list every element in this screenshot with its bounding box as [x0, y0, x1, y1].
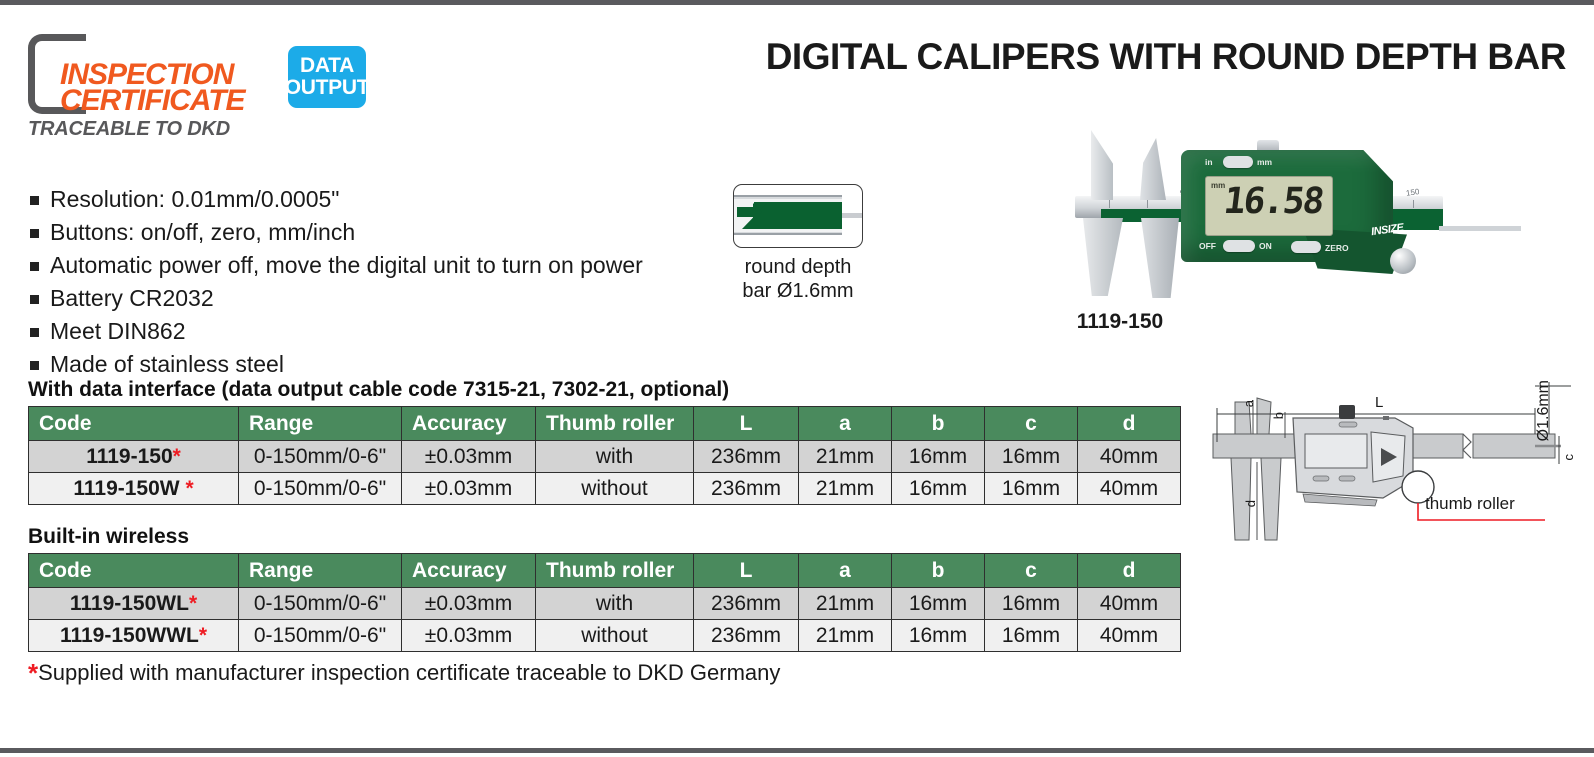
list-item: Made of stainless steel [30, 351, 710, 379]
col-header-l: L [694, 554, 799, 588]
col-header-thumb-roller: Thumb roller [536, 407, 694, 441]
cell-b: 16mm [892, 441, 985, 473]
table-header-row: Code Range Accuracy Thumb roller L a b c… [29, 554, 1181, 588]
col-header-a: a [799, 554, 892, 588]
bullet-square-icon [30, 328, 39, 337]
mm-button-label: mm [1257, 157, 1272, 167]
cell-l: 236mm [694, 588, 799, 620]
cell-range: 0-150mm/0-6" [239, 620, 402, 652]
page-title: DIGITAL CALIPERS WITH ROUND DEPTH BAR [766, 36, 1566, 78]
code-value: 1119-150WWL [60, 624, 199, 647]
list-item: Buttons: on/off, zero, mm/inch [30, 219, 710, 247]
col-header-l: L [694, 407, 799, 441]
product-photo: 70 80 90 100 110 120 130 140 150 mm 16.5… [905, 108, 1445, 303]
cell-code: 1119-150WWL* [29, 620, 239, 652]
cell-accuracy: ±0.03mm [402, 620, 536, 652]
cell-thumb-roller: with [536, 441, 694, 473]
code-value: 1119-150WL [70, 592, 189, 615]
footnote-asterisk: * [28, 658, 38, 688]
cell-b: 16mm [892, 620, 985, 652]
cell-c: 16mm [985, 588, 1078, 620]
feature-text: Resolution: 0.01mm/0.0005" [50, 186, 339, 214]
cell-c: 16mm [985, 620, 1078, 652]
cell-range: 0-150mm/0-6" [239, 473, 402, 505]
col-header-b: b [892, 407, 985, 441]
table-1-heading: With data interface (data output cable c… [28, 378, 729, 402]
list-item: Resolution: 0.01mm/0.0005" [30, 186, 710, 214]
round-depth-bar-inset-image [733, 184, 863, 248]
bullet-square-icon [30, 229, 39, 238]
caliper-thumb-roller [1390, 248, 1416, 274]
col-header-b: b [892, 554, 985, 588]
depth-bar-rod [842, 213, 863, 218]
bullet-square-icon [30, 295, 39, 304]
cell-code: 1119-150* [29, 441, 239, 473]
caliper-lcd-display: mm 16.58 [1205, 176, 1333, 236]
cell-c: 16mm [985, 441, 1078, 473]
round-depth-bar-caption: round depth bar Ø1.6mm [718, 256, 878, 303]
cell-accuracy: ±0.03mm [402, 441, 536, 473]
asterisk-marker: * [173, 445, 181, 468]
dim-label-L: L [1375, 394, 1383, 411]
certificate-line2: CERTIFICATE [60, 86, 245, 116]
col-header-a: a [799, 407, 892, 441]
off-button-label: OFF [1199, 241, 1216, 251]
feature-text: Meet DIN862 [50, 318, 186, 346]
cell-a: 21mm [799, 588, 892, 620]
thumb-roller-callout-label: thumb roller [1425, 494, 1515, 514]
col-header-d: d [1078, 554, 1181, 588]
cell-range: 0-150mm/0-6" [239, 588, 402, 620]
table-row: 1119-150W * 0-150mm/0-6" ±0.03mm without… [29, 473, 1181, 505]
col-header-c: c [985, 554, 1078, 588]
col-header-d: d [1078, 407, 1181, 441]
feature-text: Buttons: on/off, zero, mm/inch [50, 219, 355, 247]
caliper-dimension-diagram [1205, 372, 1575, 542]
cell-c: 16mm [985, 473, 1078, 505]
cell-a: 21mm [799, 441, 892, 473]
table-header-row: Code Range Accuracy Thumb roller L a b c… [29, 407, 1181, 441]
depth-bar-caption-line2: bar Ø1.6mm [718, 280, 878, 304]
caliper-upper-jaw-moving [1140, 138, 1166, 200]
col-header-accuracy: Accuracy [402, 407, 536, 441]
dim-label-c: c [1561, 454, 1576, 461]
dim-label-diameter: Ø1.6mm [1535, 380, 1553, 441]
asterisk-marker: * [185, 477, 193, 500]
caliper-depth-rod [1439, 226, 1521, 231]
lcd-value: 16.58 [1221, 181, 1324, 222]
spec-table-built-in-wireless: Code Range Accuracy Thumb roller L a b c… [28, 553, 1181, 652]
data-output-line2: OUTPUT [285, 77, 370, 99]
cell-d: 40mm [1078, 620, 1181, 652]
cell-b: 16mm [892, 588, 985, 620]
dim-label-a: a [1241, 400, 1256, 407]
feature-list: Resolution: 0.01mm/0.0005" Buttons: on/o… [30, 186, 710, 385]
cell-code: 1119-150WL* [29, 588, 239, 620]
asterisk-marker: * [199, 624, 207, 647]
list-item: Battery CR2032 [30, 285, 710, 313]
data-output-line1: DATA [300, 55, 354, 77]
feature-text: Battery CR2032 [50, 285, 214, 313]
certificate-traceable-text: TRACEABLE TO DKD [28, 118, 230, 141]
table-row: 1119-150WWL* 0-150mm/0-6" ±0.03mm withou… [29, 620, 1181, 652]
cell-code: 1119-150W * [29, 473, 239, 505]
dim-label-d: d [1243, 500, 1258, 507]
col-header-thumb-roller: Thumb roller [536, 554, 694, 588]
inch-mm-button [1223, 156, 1253, 168]
col-header-c: c [985, 407, 1078, 441]
list-item: Meet DIN862 [30, 318, 710, 346]
table-2-heading: Built-in wireless [28, 525, 189, 549]
depth-bar-caption-line1: round depth [718, 256, 878, 280]
arrow-right-icon [737, 207, 754, 217]
col-header-accuracy: Accuracy [402, 554, 536, 588]
caliper-lower-jaw-moving [1141, 218, 1179, 298]
inch-button-label: in [1205, 157, 1213, 167]
zero-button-label: ZERO [1325, 243, 1349, 253]
feature-text: Made of stainless steel [50, 351, 284, 379]
cell-d: 40mm [1078, 588, 1181, 620]
page-bottom-rule [0, 748, 1594, 753]
caliper-lower-jaw-fixed [1083, 218, 1123, 296]
footnote: *Supplied with manufacturer inspection c… [28, 660, 780, 686]
footnote-text: Supplied with manufacturer inspection ce… [38, 660, 780, 685]
depth-bar-edge-top [734, 195, 842, 197]
cell-l: 236mm [694, 473, 799, 505]
cell-l: 236mm [694, 441, 799, 473]
cell-d: 40mm [1078, 473, 1181, 505]
table-row: 1119-150* 0-150mm/0-6" ±0.03mm with 236m… [29, 441, 1181, 473]
cell-a: 21mm [799, 473, 892, 505]
cell-range: 0-150mm/0-6" [239, 441, 402, 473]
technical-drawing: L a b d c Ø1.6mm [1205, 372, 1575, 542]
data-output-badge: DATA OUTPUT [288, 46, 366, 108]
page-top-rule [0, 0, 1594, 5]
product-model-label: 1119-150 [1000, 310, 1240, 334]
on-off-button [1223, 240, 1255, 252]
asterisk-marker: * [189, 592, 197, 615]
bullet-square-icon [30, 196, 39, 205]
cell-thumb-roller: with [536, 588, 694, 620]
cell-b: 16mm [892, 473, 985, 505]
depth-bar-edge-bottom [734, 233, 842, 235]
cell-accuracy: ±0.03mm [402, 588, 536, 620]
cell-d: 40mm [1078, 441, 1181, 473]
col-header-code: Code [29, 407, 239, 441]
cell-thumb-roller: without [536, 473, 694, 505]
spec-table-with-data-interface: Code Range Accuracy Thumb roller L a b c… [28, 406, 1181, 505]
inspection-certificate-logo: INSPECTION CERTIFICATE TRACEABLE TO DKD [28, 32, 278, 127]
feature-text: Automatic power off, move the digital un… [50, 252, 643, 280]
col-header-range: Range [239, 554, 402, 588]
bullet-square-icon [30, 361, 39, 370]
zero-button [1291, 241, 1321, 253]
table-row: 1119-150WL* 0-150mm/0-6" ±0.03mm with 23… [29, 588, 1181, 620]
cell-thumb-roller: without [536, 620, 694, 652]
dim-label-b: b [1271, 412, 1286, 419]
col-header-code: Code [29, 554, 239, 588]
cell-l: 236mm [694, 620, 799, 652]
cell-accuracy: ±0.03mm [402, 473, 536, 505]
code-value: 1119-150 [86, 445, 172, 468]
caliper-upper-jaw-fixed [1091, 130, 1113, 200]
bullet-square-icon [30, 262, 39, 271]
cell-a: 21mm [799, 620, 892, 652]
code-value: 1119-150W [73, 477, 179, 500]
list-item: Automatic power off, move the digital un… [30, 252, 710, 280]
on-button-label: ON [1259, 241, 1272, 251]
col-header-range: Range [239, 407, 402, 441]
lcd-unit-label: mm [1211, 181, 1225, 190]
